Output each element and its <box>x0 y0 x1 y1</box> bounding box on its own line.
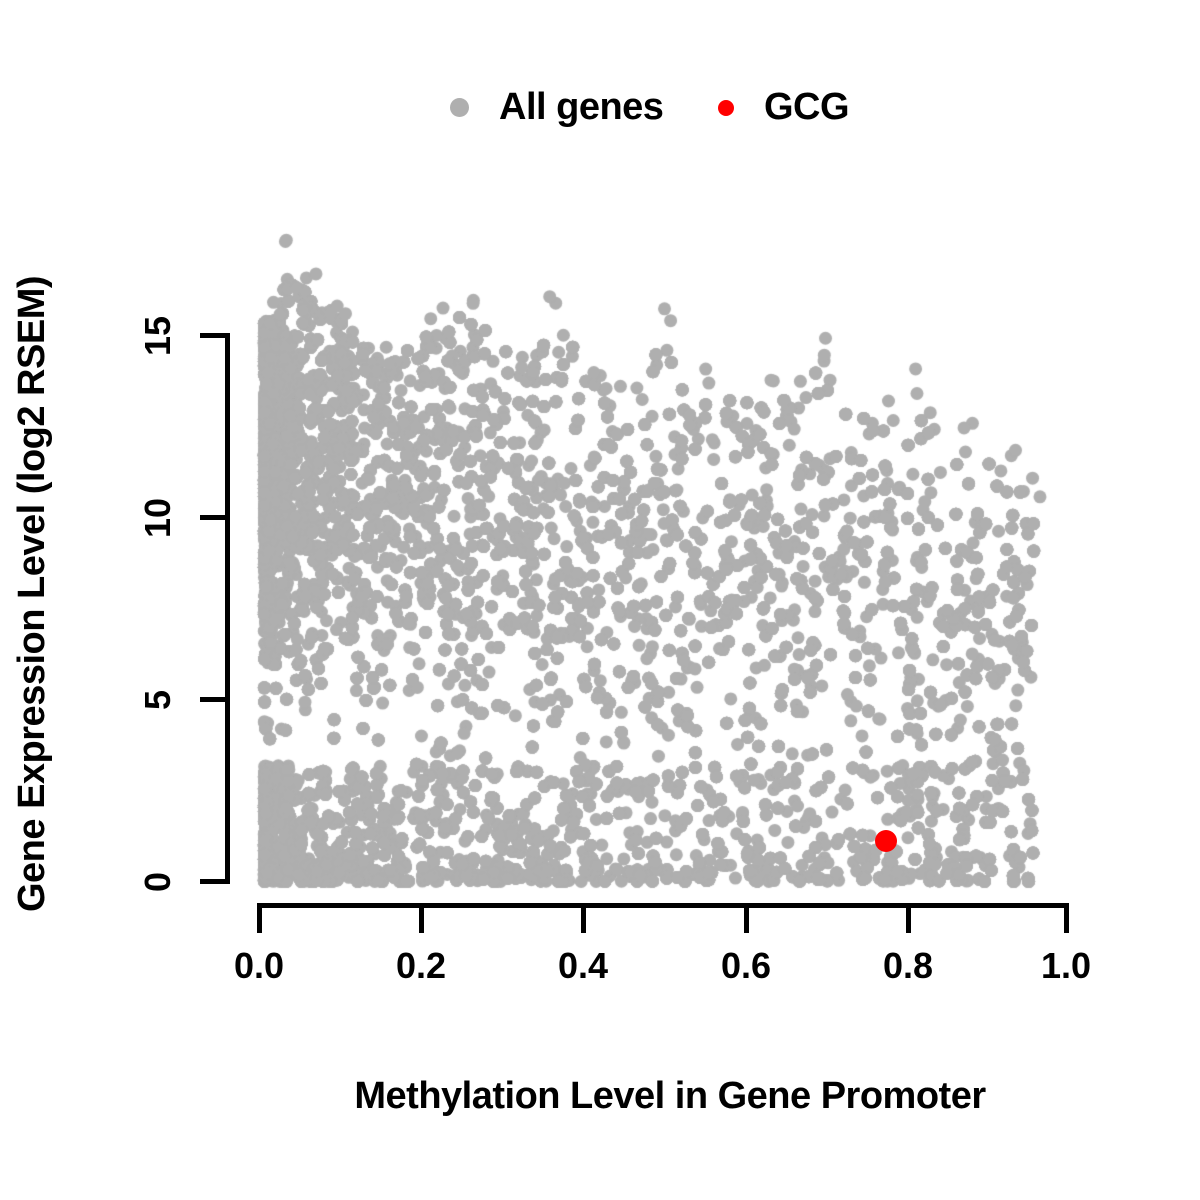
y-axis-tick-5 <box>200 697 230 702</box>
x-axis-tick-0.0 <box>257 903 262 933</box>
x-axis-tick-0.2 <box>419 903 424 933</box>
x-axis-tick-0.6 <box>744 903 749 933</box>
x-axis-tick-0.8 <box>906 903 911 933</box>
x-axis-tick-label-1.0: 1.0 <box>1011 945 1121 987</box>
y-axis-line <box>225 335 230 883</box>
x-axis-tick-0.4 <box>581 903 586 933</box>
x-axis-tick-label-0.6: 0.6 <box>691 945 801 987</box>
x-axis-tick-label-0.8: 0.8 <box>853 945 963 987</box>
x-axis-tick-label-0.4: 0.4 <box>528 945 638 987</box>
x-axis-title: Methylation Level in Gene Promoter <box>0 1075 1200 1118</box>
x-axis-tick-label-0.2: 0.2 <box>366 945 476 987</box>
x-axis-title-text: Methylation Level in Gene Promoter <box>354 1075 985 1117</box>
x-axis-line <box>257 903 1069 908</box>
x-axis-tick-label-0.0: 0.0 <box>204 945 314 987</box>
y-axis-tick-10 <box>200 515 230 520</box>
y-axis-tick-label-5: 5 <box>137 670 179 730</box>
scatter-plot-figure: All genes GCG 0 5 10 15 0.0 0.2 0.4 0.6 … <box>0 0 1200 1200</box>
y-axis-tick-15 <box>200 333 230 338</box>
y-axis-tick-label-0: 0 <box>137 852 179 912</box>
y-axis-tick-label-15: 15 <box>137 306 179 366</box>
y-axis-tick-0 <box>200 879 230 884</box>
scatter-point-cloud <box>0 0 1200 1200</box>
x-axis-tick-1.0 <box>1064 903 1069 933</box>
y-axis-tick-label-10: 10 <box>137 488 179 548</box>
